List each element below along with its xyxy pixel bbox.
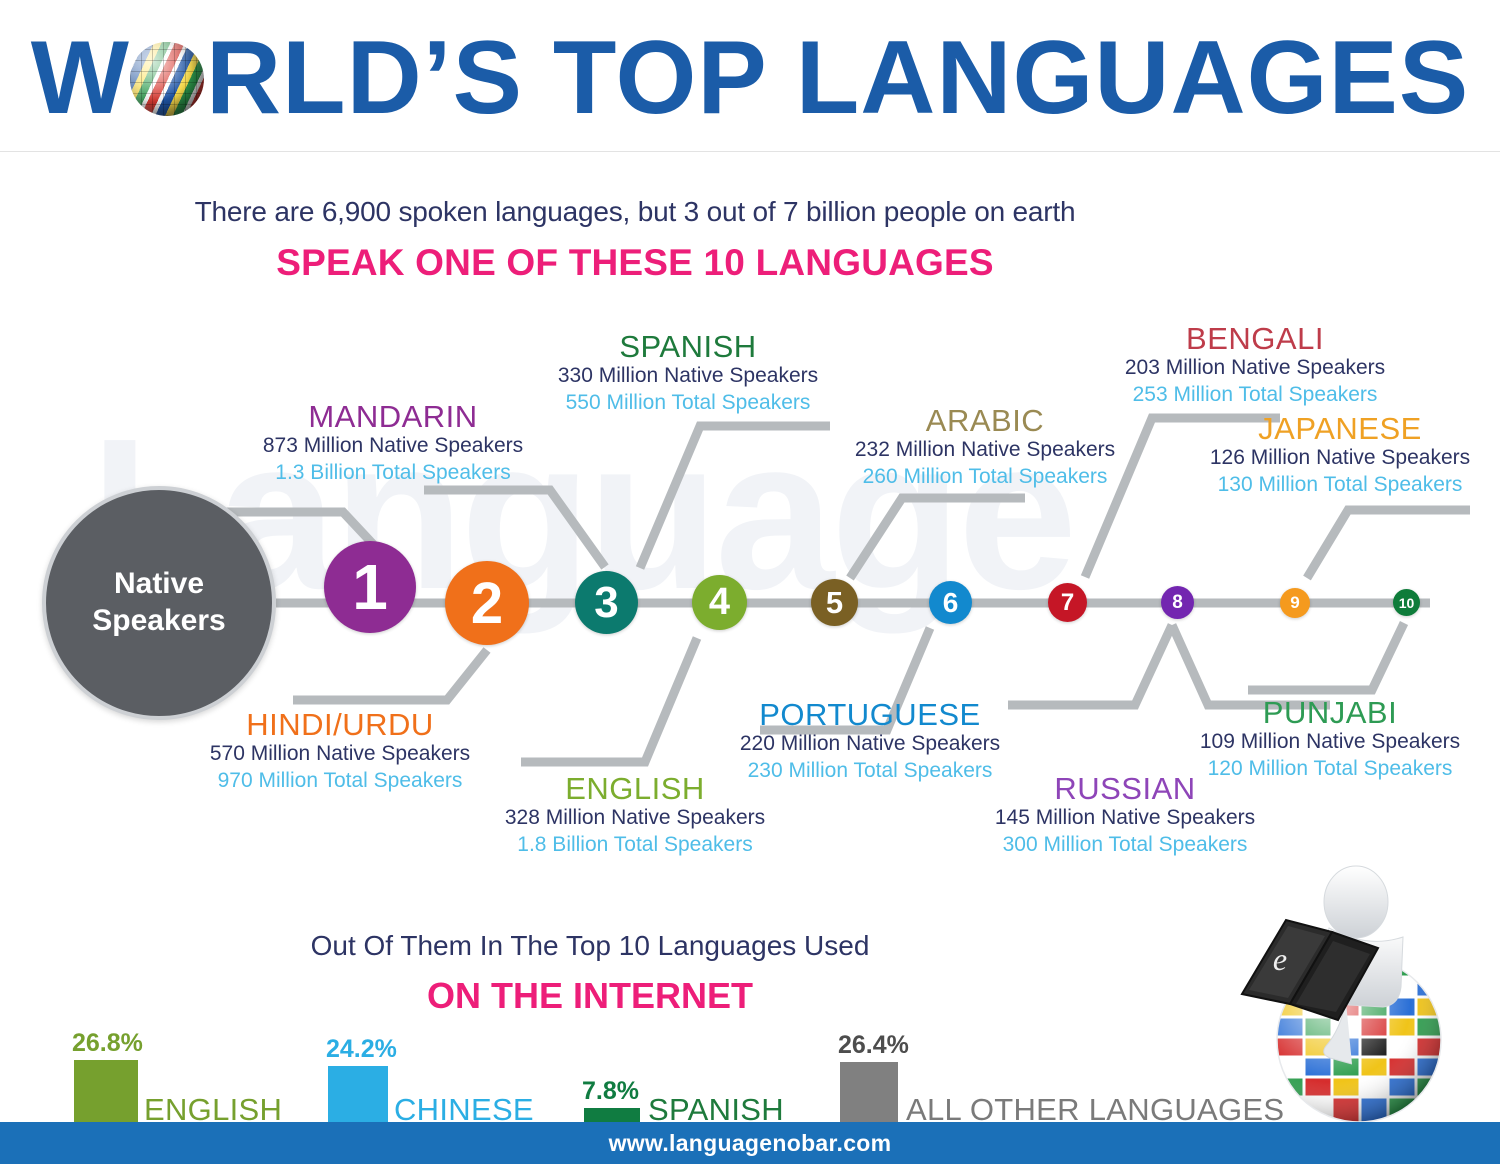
language-native-spanish: 330 Million Native Speakers [488, 363, 888, 390]
language-name-japanese: JAPANESE [1190, 412, 1490, 445]
rank-node-6-number: 6 [943, 587, 959, 619]
title-rest: RLD’S TOP LANGUAGES [206, 20, 1469, 136]
rank-node-5[interactable]: 5 [811, 579, 858, 626]
rank-node-10-number: 10 [1399, 595, 1415, 611]
intro-line-1: There are 6,900 spoken languages, but 3 … [0, 196, 1270, 228]
language-total-mandarin: 1.3 Billion Total Speakers [178, 460, 608, 487]
intro-line-2: SPEAK ONE OF THESE 10 LANGUAGES [0, 242, 1270, 284]
rank-node-3-number: 3 [594, 578, 618, 628]
bar-value-chinese: 24.2% [326, 1035, 397, 1064]
language-total-bengali: 253 Million Total Speakers [1050, 382, 1460, 409]
hub-label-line2: Speakers [92, 604, 225, 637]
rank-node-9-number: 9 [1290, 593, 1299, 613]
language-total-arabic: 260 Million Total Speakers [770, 464, 1200, 491]
language-native-english: 328 Million Native Speakers [440, 805, 830, 832]
native-speakers-hub: Native Speakers [42, 486, 276, 720]
bar-rect-chinese [328, 1066, 388, 1130]
connector-8 [1008, 625, 1172, 705]
language-name-punjabi: PUNJABI [1170, 696, 1490, 729]
language-label-japanese: JAPANESE 126 Million Native Speakers 130… [1190, 412, 1490, 499]
rank-node-10[interactable]: 10 [1393, 589, 1420, 616]
bar-value-spanish: 7.8% [582, 1077, 639, 1106]
rank-node-4[interactable]: 4 [692, 575, 747, 630]
rank-node-2[interactable]: 2 [445, 561, 529, 645]
language-label-bengali: BENGALI 203 Million Native Speakers 253 … [1050, 322, 1460, 409]
connector-2 [293, 650, 487, 700]
connector-10 [1248, 623, 1404, 690]
language-label-arabic: ARABIC 232 Million Native Speakers 260 M… [770, 404, 1200, 491]
header-banner: WRLD’S TOP LANGUAGES [0, 0, 1500, 152]
language-label-russian: RUSSIAN 145 Million Native Speakers 300 … [920, 772, 1330, 859]
language-total-punjabi: 120 Million Total Speakers [1170, 756, 1490, 783]
language-label-punjabi: PUNJABI 109 Million Native Speakers 120 … [1170, 696, 1490, 783]
connector-9 [1307, 510, 1470, 578]
language-total-english: 1.8 Billion Total Speakers [440, 832, 830, 859]
rank-node-3[interactable]: 3 [575, 571, 638, 634]
language-native-portuguese: 220 Million Native Speakers [660, 731, 1080, 758]
rank-node-8[interactable]: 8 [1161, 586, 1194, 619]
rank-node-7[interactable]: 7 [1048, 583, 1087, 622]
laptop-logo-e: e [1273, 941, 1287, 977]
language-name-bengali: BENGALI [1050, 322, 1460, 355]
page-title-text: WRLD’S TOP LANGUAGES [31, 26, 1469, 130]
footer-url[interactable]: www.languagenobar.com [609, 1130, 892, 1157]
title-first-letter: W [31, 20, 130, 136]
language-total-russian: 300 Million Total Speakers [920, 832, 1330, 859]
language-native-japanese: 126 Million Native Speakers [1190, 445, 1490, 472]
hub-label: Native Speakers [92, 566, 225, 639]
language-native-mandarin: 873 Million Native Speakers [178, 433, 608, 460]
flag-globe-icon [130, 42, 204, 116]
rank-node-2-number: 2 [471, 570, 503, 637]
footer-bar: www.languagenobar.com [0, 1122, 1500, 1164]
rank-node-9[interactable]: 9 [1280, 588, 1310, 618]
language-total-japanese: 130 Million Total Speakers [1190, 472, 1490, 499]
language-native-hindi-urdu: 570 Million Native Speakers [130, 741, 550, 768]
timeline-stage: Native Speakers 1 2 3 4 5 6 7 8 9 10 MAN… [0, 300, 1500, 900]
internet-usage-bar-chart: 26.8% ENGLISH 24.2% CHINESE 7.8% SPANISH… [0, 1030, 1280, 1130]
hub-label-line1: Native [114, 567, 204, 600]
rank-node-1-number: 1 [352, 550, 388, 624]
page-title: WRLD’S TOP LANGUAGES [0, 26, 1500, 130]
language-name-hindi-urdu: HINDI/URDU [130, 708, 550, 741]
language-native-russian: 145 Million Native Speakers [920, 805, 1330, 832]
language-native-punjabi: 109 Million Native Speakers [1170, 729, 1490, 756]
bar-value-all-other-languages: 26.4% [838, 1031, 909, 1060]
bar-rect-english [74, 1060, 138, 1130]
internet-line-2: ON THE INTERNET [0, 975, 1180, 1017]
rank-node-5-number: 5 [826, 585, 843, 621]
internet-line-1: Out Of Them In The Top 10 Languages Used [0, 930, 1180, 962]
language-native-arabic: 232 Million Native Speakers [770, 437, 1200, 464]
language-native-bengali: 203 Million Native Speakers [1050, 355, 1460, 382]
rank-node-6[interactable]: 6 [929, 581, 972, 624]
bar-rect-all-other-languages [840, 1062, 898, 1130]
rank-node-1[interactable]: 1 [324, 541, 416, 633]
language-name-portuguese: PORTUGUESE [660, 698, 1080, 731]
person-on-flag-globe-with-laptop-illustration: e [1228, 862, 1490, 1127]
rank-node-8-number: 8 [1172, 592, 1183, 614]
rank-node-4-number: 4 [709, 581, 730, 624]
bar-value-english: 26.8% [72, 1029, 143, 1058]
connector-5 [850, 498, 1025, 578]
language-name-spanish: SPANISH [488, 330, 888, 363]
rank-node-7-number: 7 [1061, 589, 1074, 617]
